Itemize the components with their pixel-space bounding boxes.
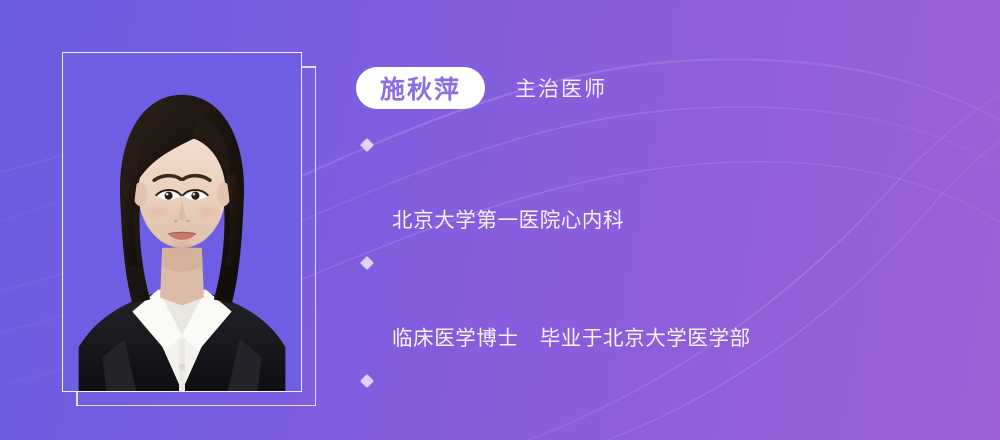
name-row: 施秋萍 主治医师	[356, 66, 966, 110]
list-item: 临床医学博士 毕业于北京大学医学部	[356, 244, 966, 358]
frame-accent-right-segment	[315, 66, 317, 406]
frame-accent-left-segment	[76, 392, 78, 406]
frame-accent-top-segment	[302, 66, 316, 68]
diamond-bullet-icon	[360, 256, 374, 270]
frame-accent-bottom-segment	[76, 405, 316, 407]
diamond-bullet-icon	[360, 138, 374, 152]
list-item-text: 临床医学博士 毕业于北京大学医学部	[392, 327, 751, 350]
doctor-info-panel: 施秋萍 主治医师 北京大学第一医院心内科 临床医学博士 毕业于北京大学医学部 从…	[356, 66, 966, 440]
diamond-bullet-icon	[360, 374, 374, 388]
doctor-name-badge: 施秋萍	[356, 67, 485, 109]
doctor-title: 主治医师	[515, 73, 607, 103]
doctor-portrait-image	[63, 53, 301, 391]
doctor-profile-card: 施秋萍 主治医师 北京大学第一医院心内科 临床医学博士 毕业于北京大学医学部 从…	[0, 0, 1000, 440]
list-item: 从事冠心病、高血压、心衰、脂代谢紊乱、心肌 病、心律失常等心血管疾病诊疗。	[356, 362, 966, 440]
list-item: 北京大学第一医院心内科	[356, 126, 966, 240]
list-item-text: 北京大学第一医院心内科	[392, 209, 624, 232]
portrait-photo-frame	[62, 52, 302, 392]
credentials-list: 北京大学第一医院心内科 临床医学博士 毕业于北京大学医学部 从事冠心病、高血压、…	[356, 126, 966, 440]
portrait-photo-block	[62, 52, 302, 392]
